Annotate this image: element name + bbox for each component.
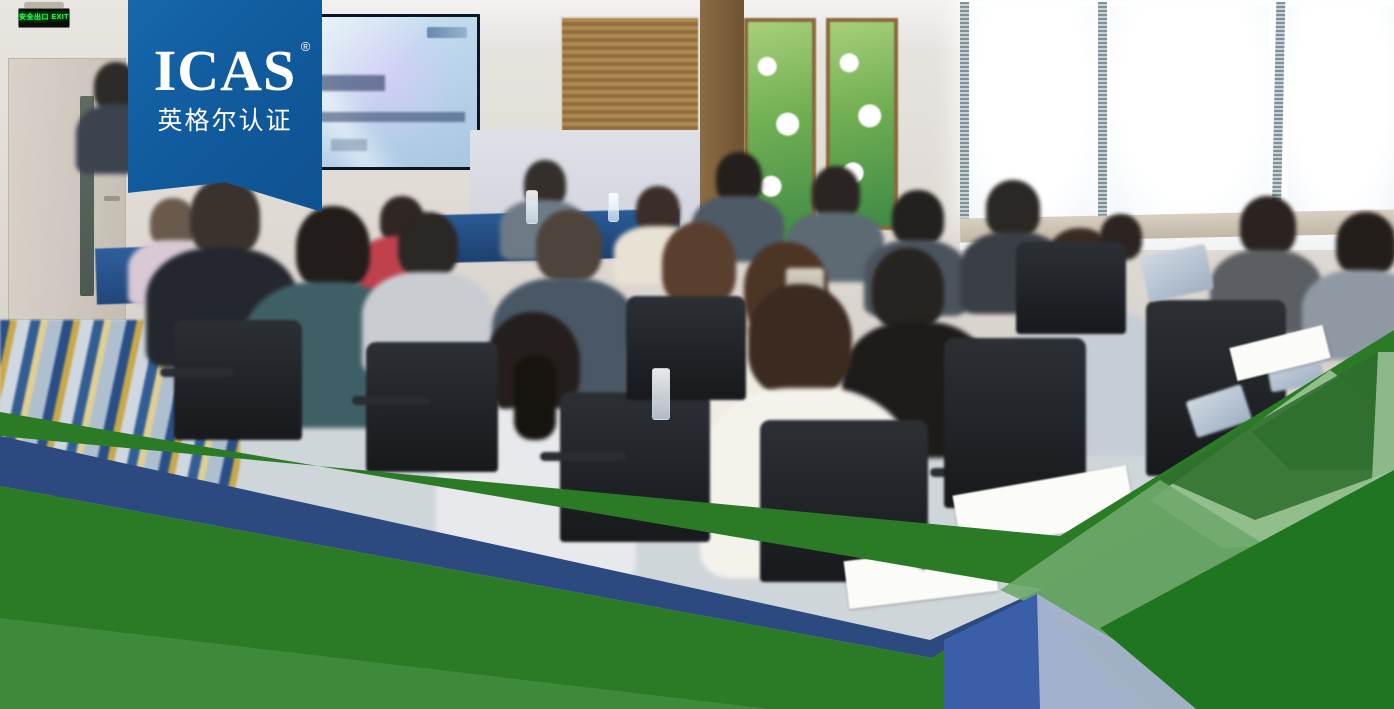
banner-root: 安全出口 EXIT <box>0 0 1394 709</box>
icas-wordmark-text: ICAS <box>154 38 297 103</box>
icas-chinese-name: 英格尔认证 <box>157 106 292 136</box>
icas-wordmark: ICAS ® <box>154 42 297 100</box>
icas-logo-block: ICAS ® 英格尔认证 <box>128 0 322 212</box>
registered-trademark-icon: ® <box>301 40 312 53</box>
